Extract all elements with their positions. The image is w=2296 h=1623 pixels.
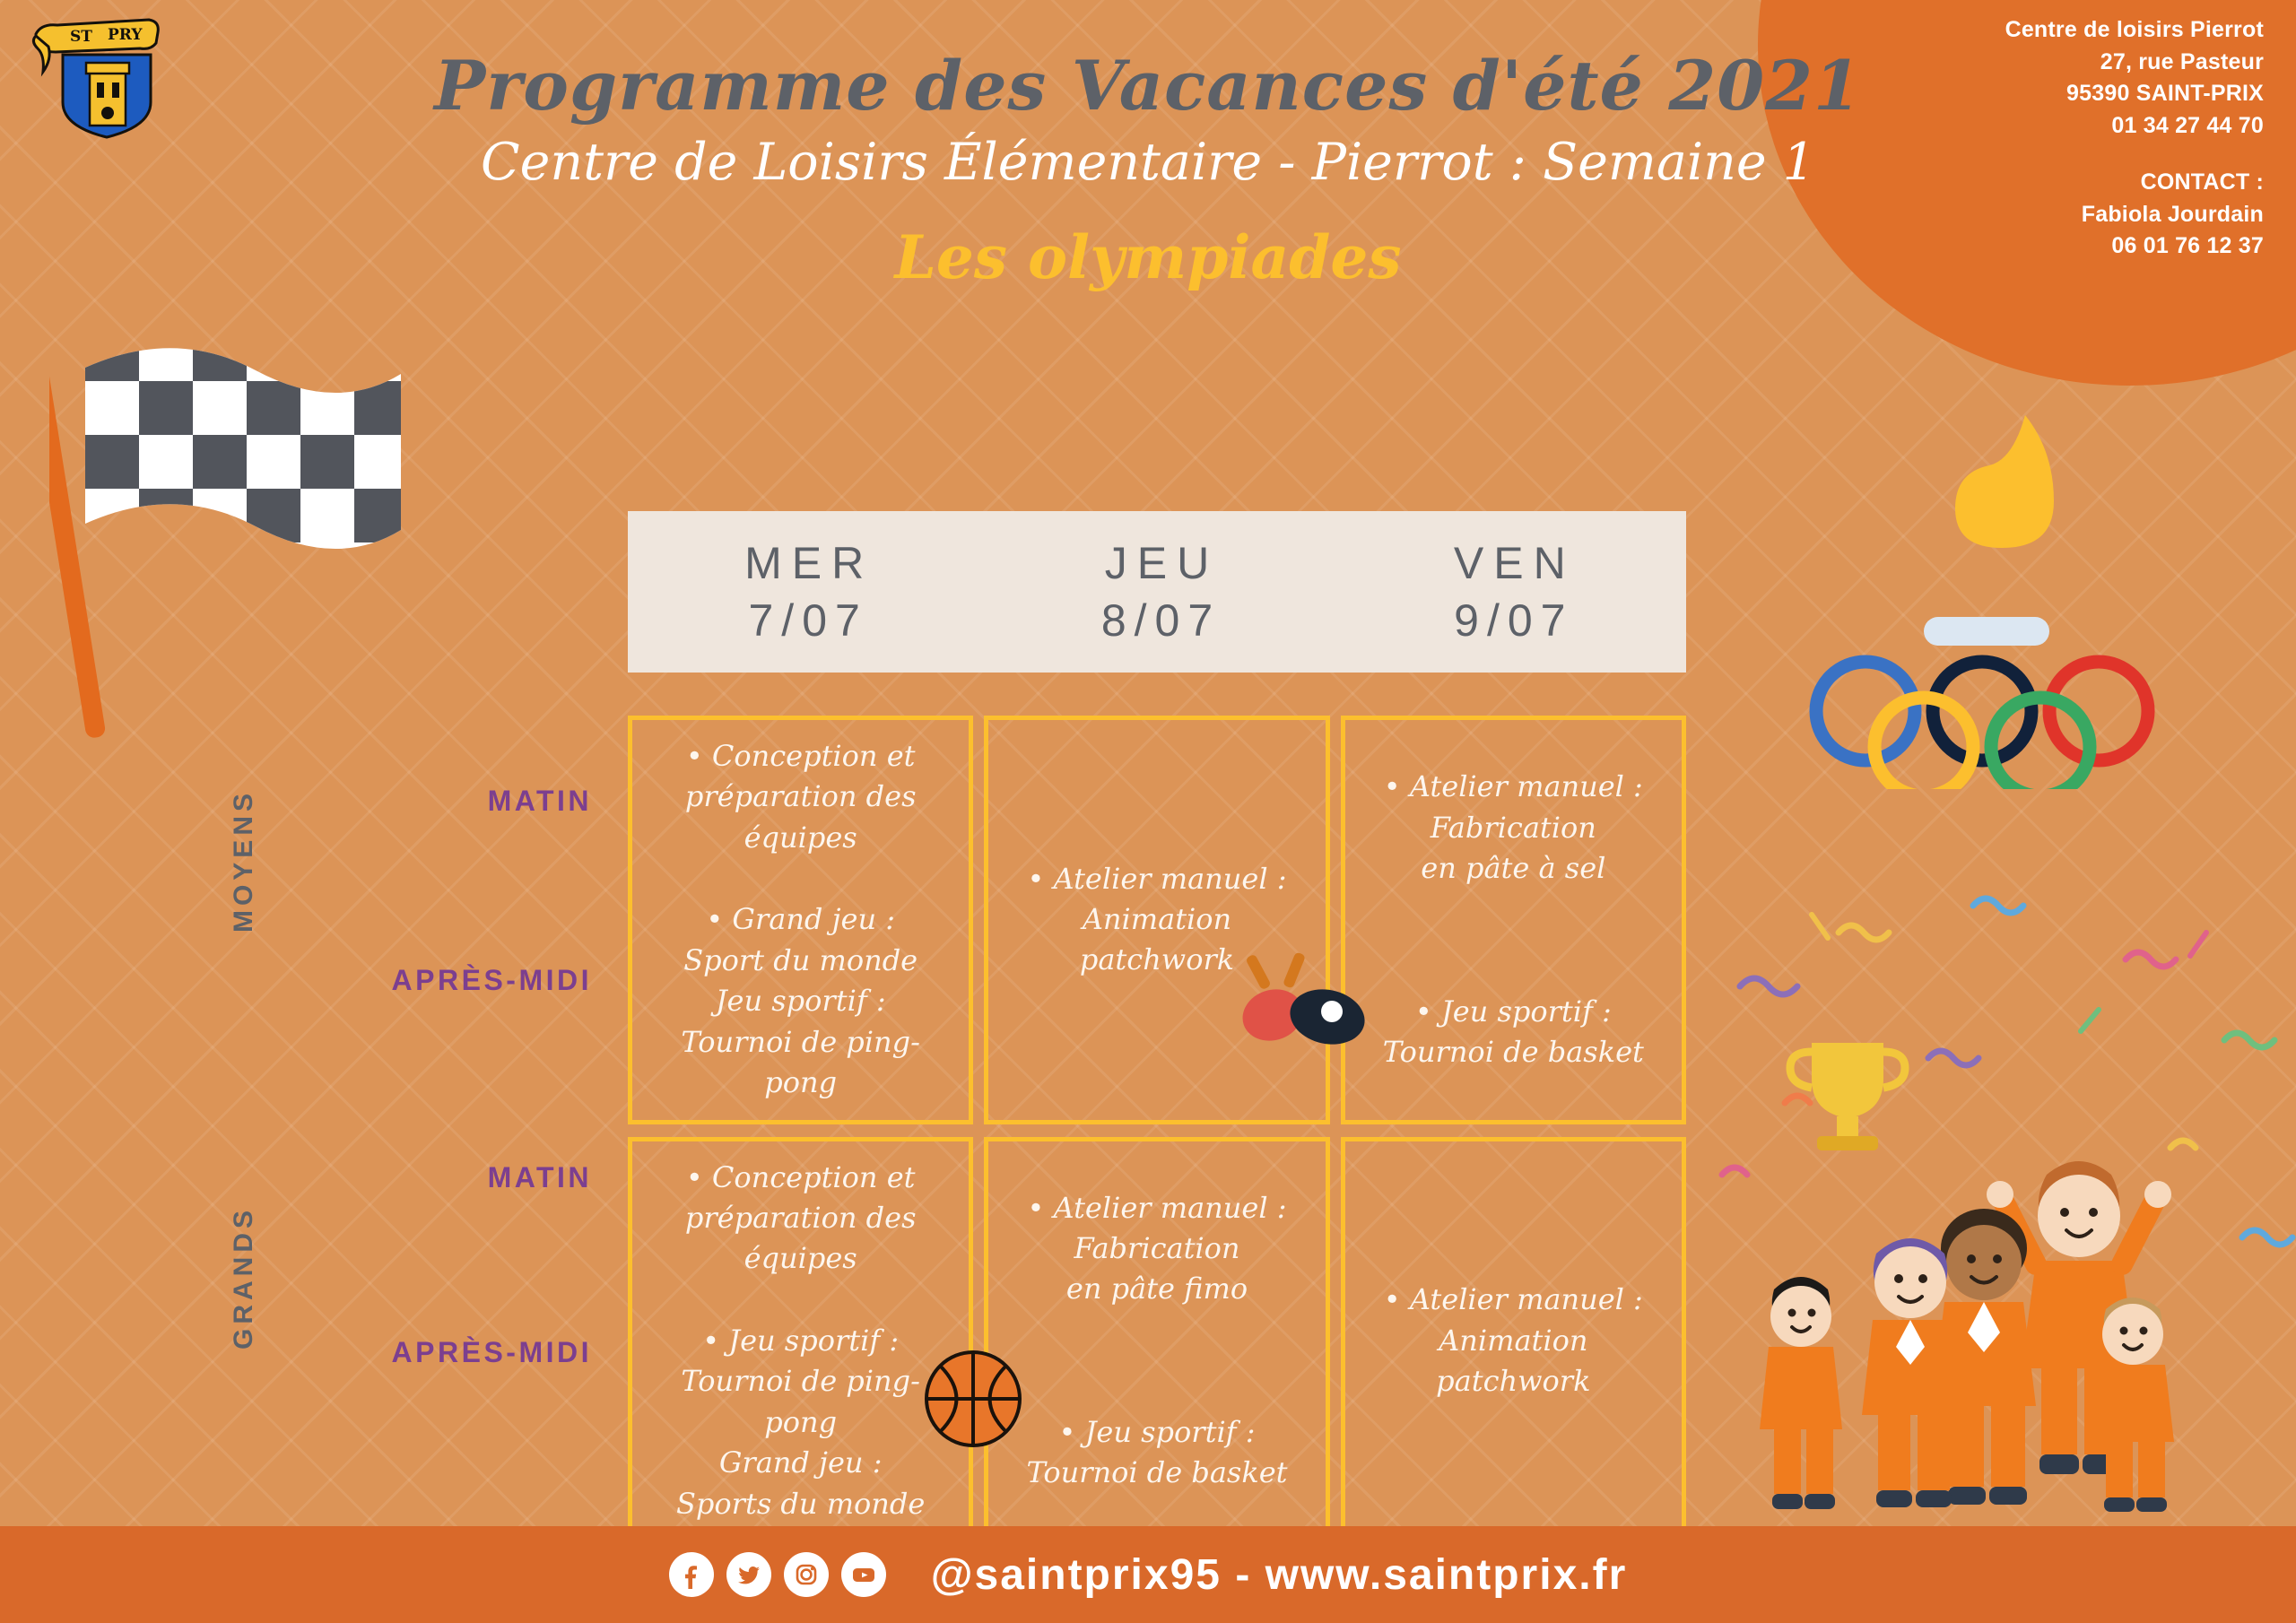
day-date: 9/07 bbox=[1446, 595, 1573, 647]
instagram-icon[interactable] bbox=[784, 1552, 829, 1597]
youtube-icon[interactable] bbox=[841, 1552, 886, 1597]
group-label-moyens: MOYENS bbox=[229, 789, 259, 933]
activity-line: préparation des équipes bbox=[645, 1198, 956, 1280]
activity-line: Sport du monde bbox=[645, 941, 956, 981]
contact-center-name: Centre de loisirs Pierrot bbox=[2005, 14, 2264, 47]
group-label-grands: GRANDS bbox=[229, 1206, 259, 1350]
activity-line: • Grand jeu : bbox=[645, 899, 956, 940]
day-date: 7/07 bbox=[741, 595, 868, 647]
day-name: VEN bbox=[1444, 537, 1576, 589]
footer-handle-and-website[interactable]: @saintprix95 - www.saintprix.fr bbox=[931, 1550, 1628, 1600]
activity-block: • Jeu sportif : Tournoi de ping-pong Gra… bbox=[645, 1321, 956, 1524]
activity-block: • Atelier manuel : Fabrication en pâte f… bbox=[1027, 1188, 1286, 1310]
cell-moyens-ven: • Atelier manuel : Fabrication en pâte à… bbox=[1341, 716, 1686, 1124]
activity-line: Fabrication bbox=[1384, 808, 1643, 848]
footer-bar: @saintprix95 - www.saintprix.fr bbox=[0, 1526, 2296, 1623]
group-row-grands: • Conception et préparation des équipes … bbox=[628, 1137, 1686, 1546]
activity-block: • Atelier manuel : Fabrication en pâte à… bbox=[1384, 767, 1643, 889]
time-label-grands-matin: MATIN bbox=[296, 1161, 592, 1194]
activity-line: préparation des équipes bbox=[645, 777, 956, 858]
cell-grands-jeu: • Atelier manuel : Fabrication en pâte f… bbox=[984, 1137, 1329, 1546]
day-header-ven: VEN 9/07 bbox=[1334, 511, 1686, 673]
activity-line: Grand jeu : bbox=[645, 1443, 956, 1483]
svg-text:PRY: PRY bbox=[108, 26, 143, 44]
checkered-flag-icon bbox=[49, 318, 426, 740]
time-label-grands-apres-midi: APRÈS-MIDI bbox=[296, 1336, 592, 1369]
activity-line: • Conception et bbox=[645, 1158, 956, 1198]
activity-line: • Jeu sportif : bbox=[645, 1321, 956, 1361]
cell-grands-ven: • Atelier manuel : Animation patchwork bbox=[1341, 1137, 1686, 1546]
activity-line: Sports du monde bbox=[645, 1484, 956, 1524]
cell-moyens-jeu: • Atelier manuel : Animation patchwork bbox=[984, 716, 1329, 1124]
theme-title: Les olympiades bbox=[0, 228, 2296, 287]
poster-root: ST PRY Centre de loisirs Pierrot 27, rue… bbox=[0, 0, 2296, 1623]
activity-block: • Grand jeu : Sport du monde Jeu sportif… bbox=[645, 899, 956, 1103]
time-label-moyens-matin: MATIN bbox=[296, 785, 592, 818]
group-row-moyens: • Conception et préparation des équipes … bbox=[628, 716, 1686, 1124]
social-links bbox=[669, 1552, 886, 1597]
activity-line: • Atelier manuel : bbox=[1384, 767, 1643, 807]
activity-block: • Jeu sportif : Tournoi de basket bbox=[1383, 992, 1644, 1073]
day-date: 8/07 bbox=[1093, 595, 1221, 647]
cell-moyens-mer: • Conception et préparation des équipes … bbox=[628, 716, 973, 1124]
activity-line: Animation patchwork bbox=[1358, 1321, 1669, 1402]
day-header-mer: MER 7/07 bbox=[628, 511, 980, 673]
day-header-jeu: JEU 8/07 bbox=[980, 511, 1333, 673]
activity-line: Tournoi de basket bbox=[1026, 1453, 1287, 1493]
day-name: MER bbox=[735, 537, 874, 589]
activity-block: • Conception et préparation des équipes bbox=[645, 1158, 956, 1280]
activity-line: Tournoi de basket bbox=[1383, 1032, 1644, 1072]
basketball-icon bbox=[924, 1350, 1022, 1448]
activity-block: • Jeu sportif : Tournoi de basket bbox=[1026, 1412, 1287, 1494]
activity-line: • Jeu sportif : bbox=[1383, 992, 1644, 1032]
activity-line: Fabrication bbox=[1027, 1228, 1286, 1269]
activity-line: • Atelier manuel : bbox=[1027, 1188, 1286, 1228]
page-subtitle: Centre de Loisirs Élémentaire - Pierrot … bbox=[0, 136, 2296, 190]
activity-line: Tournoi de ping-pong bbox=[645, 1361, 956, 1443]
olympic-rings-icon bbox=[1776, 610, 2188, 789]
activity-line: • Atelier manuel : bbox=[1001, 859, 1312, 899]
facebook-icon[interactable] bbox=[669, 1552, 714, 1597]
activity-line: Jeu sportif : bbox=[645, 981, 956, 1021]
day-header-row: MER 7/07 JEU 8/07 VEN 9/07 bbox=[628, 511, 1686, 673]
activity-line: en pâte fimo bbox=[1027, 1269, 1286, 1309]
activity-line: • Conception et bbox=[645, 736, 956, 777]
time-label-moyens-apres-midi: APRÈS-MIDI bbox=[296, 964, 592, 997]
ping-pong-paddles-icon bbox=[1233, 952, 1395, 1051]
page-title: Programme des Vacances d'été 2021 bbox=[0, 52, 2296, 120]
cell-grands-mer: • Conception et préparation des équipes … bbox=[628, 1137, 973, 1546]
activity-line: • Atelier manuel : bbox=[1358, 1280, 1669, 1320]
svg-text:ST: ST bbox=[70, 28, 92, 46]
title-group: Programme des Vacances d'été 2021 Centre… bbox=[0, 52, 2296, 287]
activity-grid: • Conception et préparation des équipes … bbox=[628, 716, 1686, 1545]
activity-block: • Atelier manuel : Animation patchwork bbox=[1358, 1280, 1669, 1402]
twitter-icon[interactable] bbox=[726, 1552, 771, 1597]
kids-illustration bbox=[1731, 1040, 2269, 1515]
activity-line: Tournoi de ping-pong bbox=[645, 1022, 956, 1104]
activity-line: • Jeu sportif : bbox=[1026, 1412, 1287, 1453]
activity-line: en pâte à sel bbox=[1384, 848, 1643, 889]
olympic-torch-icon bbox=[1919, 408, 2099, 569]
day-name: JEU bbox=[1095, 537, 1219, 589]
activity-block: • Conception et préparation des équipes bbox=[645, 736, 956, 858]
